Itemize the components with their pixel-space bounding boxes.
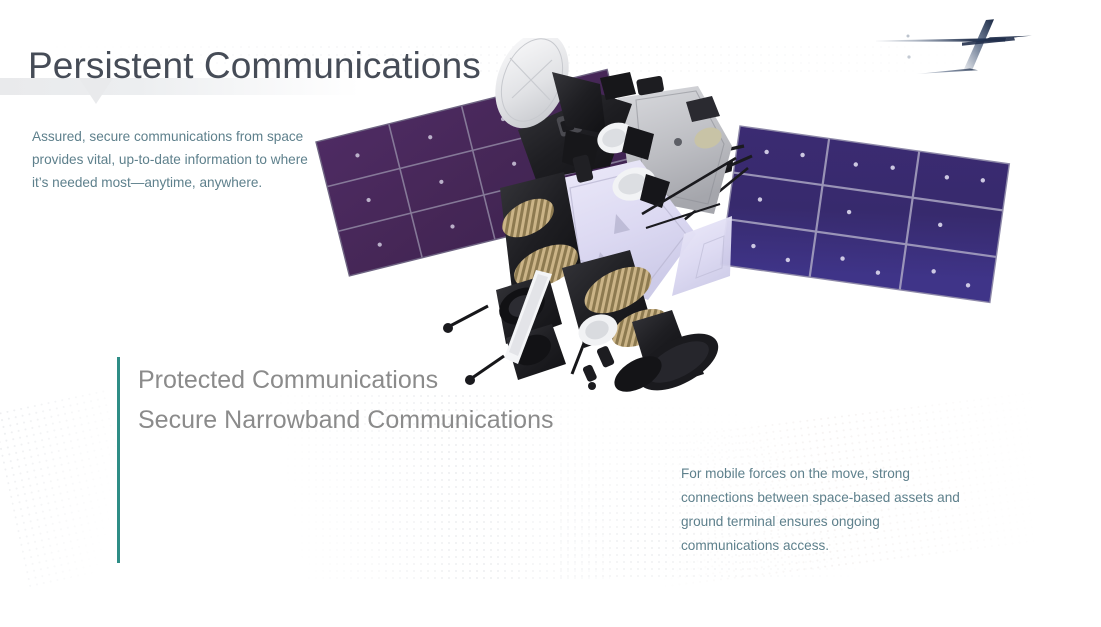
callout-paragraph: Assured, secure communications from spac… (32, 125, 322, 194)
slide-canvas: Persistent Communications Assured, secur… (0, 0, 1101, 627)
dot-texture-left (0, 390, 142, 590)
accent-bar (117, 357, 120, 563)
lower-paragraph: For mobile forces on the move, strong co… (681, 462, 981, 558)
communications-satellite-illustration (300, 38, 1020, 408)
